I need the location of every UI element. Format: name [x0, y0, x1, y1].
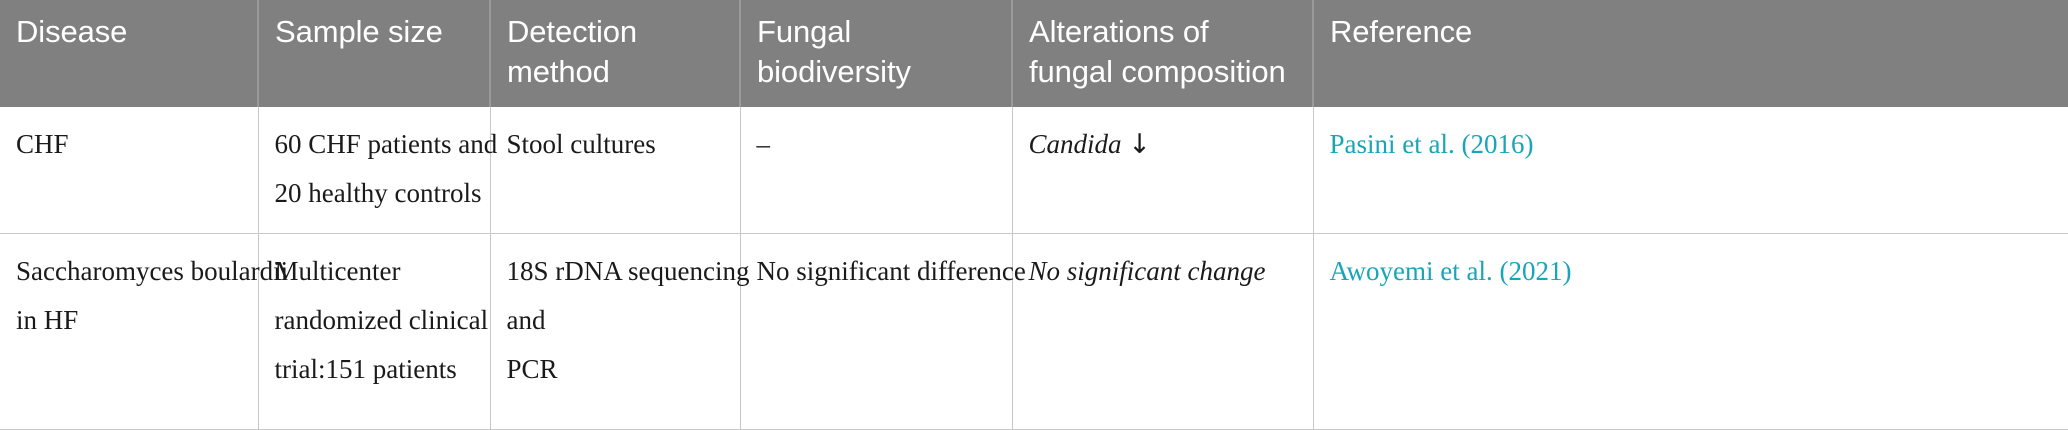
cell-fungal-biodiversity: No significant difference — [740, 233, 1012, 429]
cell-disease-line1: Saccharomyces boulardii — [16, 247, 242, 296]
cell-sample-size-line2: randomized clinical — [275, 296, 474, 345]
cell-disease: Saccharomyces boulardii in HF — [0, 233, 258, 429]
column-header-disease-label: Disease — [16, 14, 127, 49]
cell-reference: Awoyemi et al. (2021) — [1313, 233, 2068, 429]
cell-disease: CHF — [0, 107, 258, 233]
cell-alterations-taxon: Candida — [1029, 129, 1122, 159]
cell-disease-value: CHF — [16, 120, 242, 169]
table-header-row: Disease Sample size Detection method Fun… — [0, 0, 2068, 107]
column-header-sample-size: Sample size — [258, 0, 490, 107]
cell-fungal-biodiversity-value: – — [757, 120, 771, 169]
cell-reference: Pasini et al. (2016) — [1313, 107, 2068, 233]
cell-detection-method-line3: PCR — [507, 345, 724, 394]
fungal-studies-table: Disease Sample size Detection method Fun… — [0, 0, 2068, 430]
cell-detection-method-line1: Stool cultures — [507, 120, 724, 169]
reference-link[interactable]: Awoyemi et al. (2021) — [1330, 256, 1572, 286]
cell-fungal-biodiversity-value: No significant difference — [757, 247, 996, 296]
cell-detection-method-line2: and — [507, 296, 724, 345]
column-header-disease: Disease — [0, 0, 258, 107]
cell-alterations-value: Candida ↓ — [1029, 120, 1297, 169]
column-header-fungal-biodiversity-label: Fungal biodiversity — [757, 14, 911, 89]
column-header-fungal-biodiversity: Fungal biodiversity — [740, 0, 1012, 107]
cell-sample-size-line1: 60 CHF patients and — [275, 120, 474, 169]
table-row: Saccharomyces boulardii in HF Multicente… — [0, 233, 2068, 429]
cell-alterations: No significant change — [1012, 233, 1313, 429]
down-arrow-icon: ↓ — [1128, 129, 1151, 160]
column-header-detection-method: Detection method — [490, 0, 740, 107]
cell-sample-size: Multicenter randomized clinical trial:15… — [258, 233, 490, 429]
cell-alterations-value: No significant change — [1029, 247, 1297, 296]
table-row: CHF 60 CHF patients and 20 healthy contr… — [0, 107, 2068, 233]
cell-sample-size-line3: trial:151 patients — [275, 345, 474, 394]
cell-detection-method: 18S rDNA sequencing and PCR — [490, 233, 740, 429]
cell-detection-method-line1: 18S rDNA sequencing — [507, 247, 724, 296]
reference-link[interactable]: Pasini et al. (2016) — [1330, 129, 1534, 159]
column-header-alterations: Alterations of fungal composition — [1012, 0, 1313, 107]
table-container: Disease Sample size Detection method Fun… — [0, 0, 2068, 406]
column-header-alterations-line1: Alterations of — [1029, 12, 1296, 52]
cell-sample-size-line1: Multicenter — [275, 247, 474, 296]
column-header-alterations-line2: fungal composition — [1029, 52, 1296, 92]
column-header-detection-method-line2: method — [507, 52, 723, 92]
cell-detection-method: Stool cultures — [490, 107, 740, 233]
table-body: CHF 60 CHF patients and 20 healthy contr… — [0, 107, 2068, 429]
cell-disease-line2: in HF — [16, 296, 242, 345]
cell-fungal-biodiversity: – — [740, 107, 1012, 233]
column-header-reference-label: Reference — [1330, 14, 1472, 49]
column-header-detection-method-line1: Detection — [507, 12, 723, 52]
cell-sample-size: 60 CHF patients and 20 healthy controls — [258, 107, 490, 233]
table-header: Disease Sample size Detection method Fun… — [0, 0, 2068, 107]
column-header-reference: Reference — [1313, 0, 2068, 107]
cell-sample-size-line2: 20 healthy controls — [275, 169, 474, 218]
column-header-sample-size-label: Sample size — [275, 14, 443, 49]
cell-alterations: Candida ↓ — [1012, 107, 1313, 233]
